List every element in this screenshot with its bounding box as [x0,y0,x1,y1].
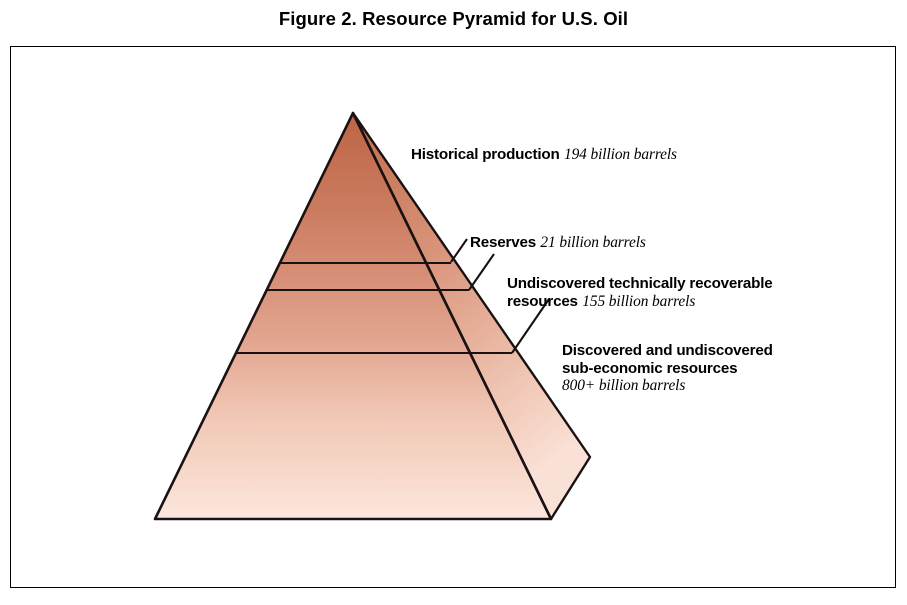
label-utrr-value: 155 billion barrels [582,293,695,310]
label-historical-production: Historical production 194 billion barrel… [411,146,677,165]
figure-border-frame [10,46,896,588]
label-subeconomic-name-line2: sub-economic resources [562,360,773,378]
label-reserves: Reserves 21 billion barrels [470,234,646,253]
label-historical-production-value: 194 billion barrels [564,146,677,163]
label-subeconomic-name-line1: Discovered and undiscovered [562,342,773,360]
label-historical-production-name: Historical production [411,146,560,163]
label-reserves-value: 21 billion barrels [540,234,645,251]
figure-container: Figure 2. Resource Pyramid for U.S. Oil [0,0,907,605]
label-subeconomic-value: 800+ billion barrels [562,377,773,395]
label-undiscovered-technically-recoverable: Undiscovered technically recoverable res… [507,275,772,311]
figure-title: Figure 2. Resource Pyramid for U.S. Oil [0,8,907,30]
label-reserves-name: Reserves [470,234,536,251]
label-utrr-name-line2: resources [507,293,578,310]
label-discovered-undiscovered-sub-economic: Discovered and undiscovered sub-economic… [562,342,773,395]
label-utrr-name-line1: Undiscovered technically recoverable [507,275,772,293]
